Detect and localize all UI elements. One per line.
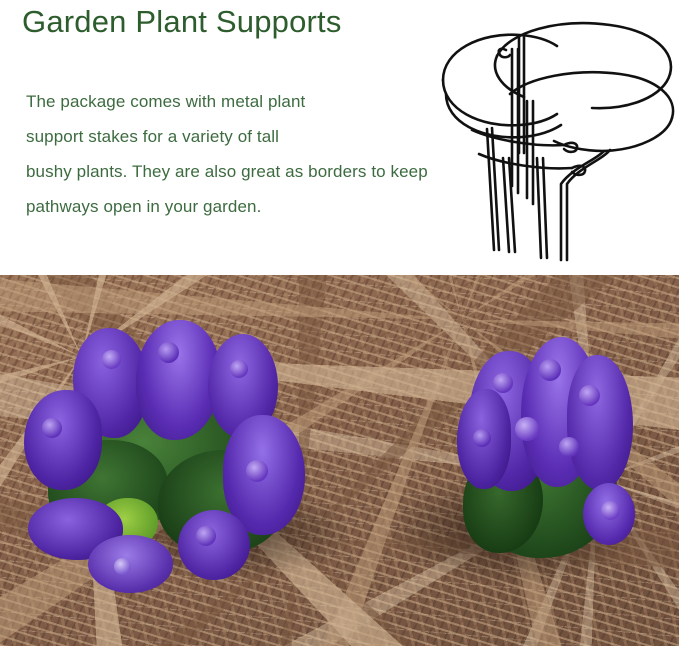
flower [539,359,561,381]
flower [230,360,248,378]
flower [493,373,513,393]
flower [114,558,131,575]
flower [196,526,216,546]
header-panel: Garden Plant Supports The package comes … [0,0,679,275]
flower [246,460,268,482]
left-plant-unsupported [18,320,308,595]
plant-support-illustration [424,8,679,266]
flower-cluster [567,355,633,490]
flower [559,437,579,457]
garden-photo [0,275,679,646]
page-title: Garden Plant Supports [22,2,342,42]
flower [473,429,491,447]
flower [158,342,179,363]
flower [42,418,62,438]
flower-cluster [178,510,250,580]
right-plant-supported [455,333,640,573]
flower [102,350,121,369]
flower [601,501,620,520]
flower-cluster [24,390,102,490]
flower [579,385,600,406]
flower [515,417,539,441]
